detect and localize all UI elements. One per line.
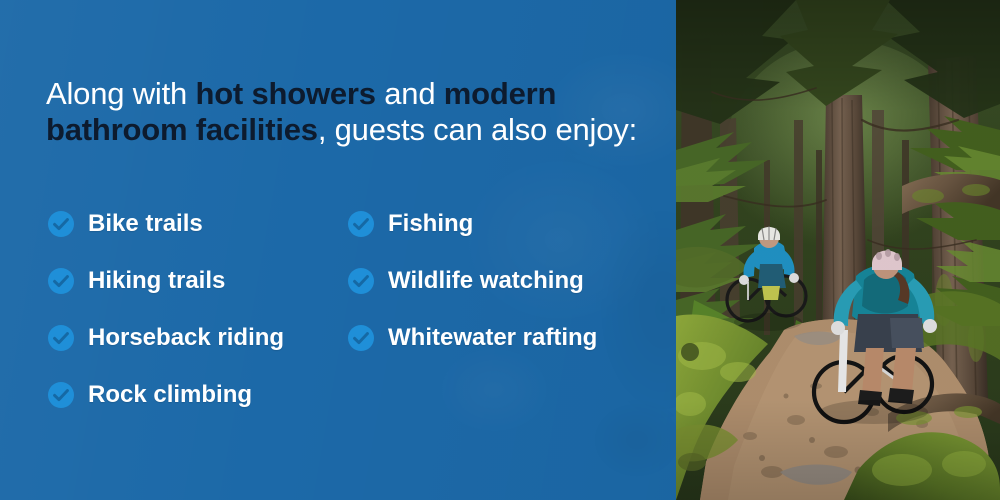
amenity-label: Hiking trails: [88, 266, 225, 295]
amenity-item-left-1[interactable]: Hiking trails: [48, 266, 284, 323]
amenity-label: Bike trails: [88, 209, 203, 238]
check-circle-icon: [348, 211, 374, 237]
forest-scene-illustration: [676, 0, 1000, 500]
blue-content-panel: Along with hot showers and modern bathro…: [0, 0, 676, 500]
amenity-item-right-1[interactable]: Wildlife watching: [348, 266, 597, 323]
amenity-label: Wildlife watching: [388, 266, 584, 295]
amenity-label: Fishing: [388, 209, 473, 238]
promo-banner: Along with hot showers and modern bathro…: [0, 0, 1000, 500]
amenity-label: Whitewater rafting: [388, 323, 597, 352]
amenities-lists: Bike trailsHiking trailsHorseback riding…: [0, 0, 676, 500]
amenity-label: Rock climbing: [88, 380, 252, 409]
amenity-item-right-2[interactable]: Whitewater rafting: [348, 323, 597, 380]
amenity-item-right-0[interactable]: Fishing: [348, 209, 597, 266]
check-circle-icon: [48, 211, 74, 237]
forest-biking-photo: [676, 0, 1000, 500]
amenities-column-right: FishingWildlife watchingWhitewater rafti…: [348, 209, 597, 380]
check-circle-icon: [48, 382, 74, 408]
amenities-column-left: Bike trailsHiking trailsHorseback riding…: [48, 209, 284, 437]
amenity-item-left-3[interactable]: Rock climbing: [48, 380, 284, 437]
amenity-item-left-0[interactable]: Bike trails: [48, 209, 284, 266]
check-circle-icon: [348, 268, 374, 294]
check-circle-icon: [348, 325, 374, 351]
amenity-item-left-2[interactable]: Horseback riding: [48, 323, 284, 380]
check-circle-icon: [48, 268, 74, 294]
check-circle-icon: [48, 325, 74, 351]
amenity-label: Horseback riding: [88, 323, 284, 352]
